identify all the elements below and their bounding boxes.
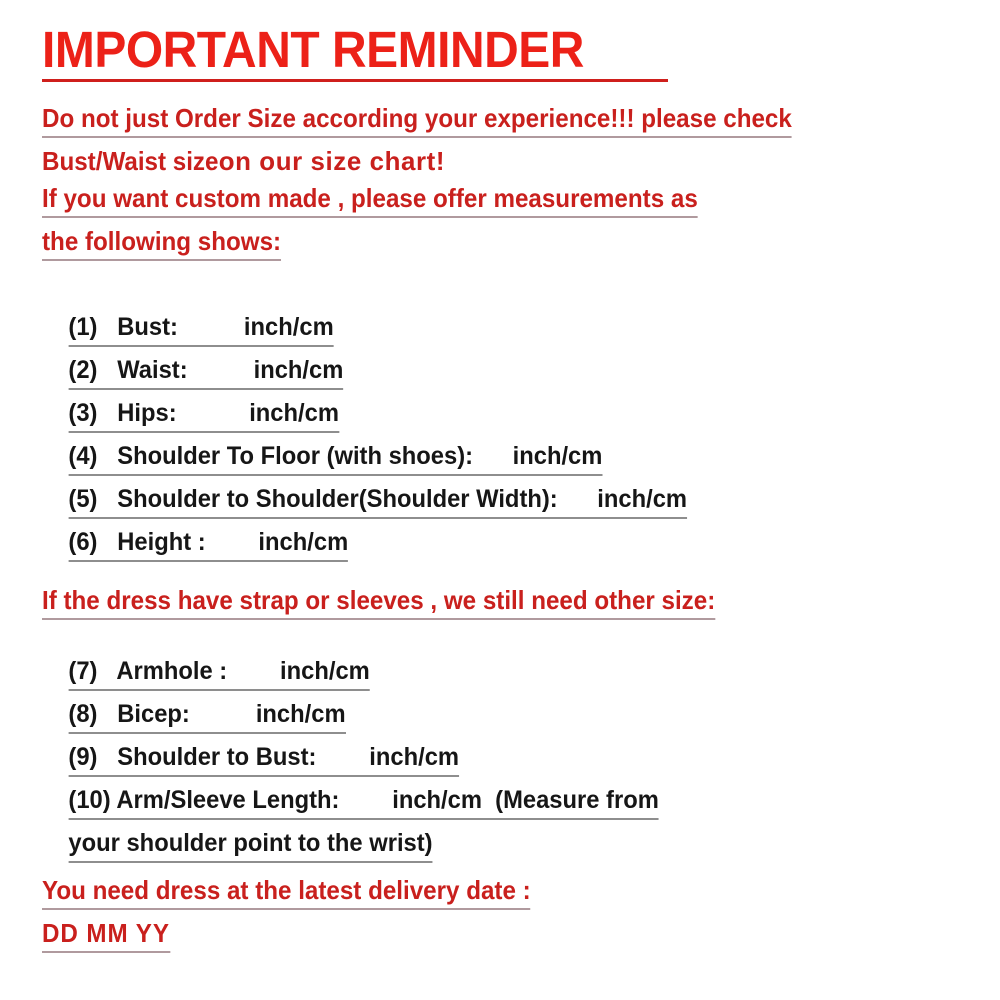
measurement-item-6-text: (6) Height : inch/cm xyxy=(68,528,348,562)
measurement-item-6-gap xyxy=(206,528,259,556)
page-title: IMPORTANT REMINDER xyxy=(42,22,584,78)
measurement-item-5-gap xyxy=(558,485,598,513)
intro-line-4-text: the following shows: xyxy=(42,226,281,261)
intro-line-1: Do not just Order Size according your ex… xyxy=(42,103,792,138)
intro-line-4: the following shows: xyxy=(42,226,281,261)
sleeve-section-heading-text: If the dress have strap or sleeves , we … xyxy=(42,585,715,620)
delivery-date-heading-text: You need dress at the latest delivery da… xyxy=(42,875,531,910)
title-block: IMPORTANT REMINDER xyxy=(42,22,619,78)
delivery-date-heading: You need dress at the latest delivery da… xyxy=(42,875,531,910)
intro-line-2-container: Bust/Waist size on our size chart! xyxy=(42,146,430,179)
measurement-item-10-wrap-text: your shoulder point to the wrist) xyxy=(68,829,432,863)
delivery-date-placeholder[interactable]: DD MM YY xyxy=(42,918,170,953)
intro-line-3-text: If you want custom made , please offer m… xyxy=(42,183,698,218)
reminder-document: IMPORTANT REMINDER Do not just Order Siz… xyxy=(0,0,1000,1000)
sleeve-section-heading: If the dress have strap or sleeves , we … xyxy=(42,585,715,620)
measurement-item-5-unit: inch/cm xyxy=(597,485,687,513)
delivery-date-placeholder-text[interactable]: DD MM YY xyxy=(42,918,170,953)
intro-line-2: Bust/Waist size on our size chart! xyxy=(42,146,430,179)
intro-line-3: If you want custom made , please offer m… xyxy=(42,183,698,218)
intro-line-2-part1: Bust/Waist size xyxy=(42,146,218,176)
measurement-item-6-unit: inch/cm xyxy=(258,528,348,556)
measurement-item-6-label: Height : xyxy=(117,528,205,556)
intro-line-1-text: Do not just Order Size according your ex… xyxy=(42,103,792,138)
measurement-item-6-spacer-a xyxy=(97,528,117,556)
measurement-item-6-number: (6) xyxy=(68,528,97,556)
intro-line-2-part2: on our size chart! xyxy=(218,146,444,176)
measurement-item-10-note: (Measure from xyxy=(482,786,659,814)
title-underline-rule xyxy=(42,79,668,82)
measurement-item-6: (6) Height : inch/cm xyxy=(42,499,348,591)
